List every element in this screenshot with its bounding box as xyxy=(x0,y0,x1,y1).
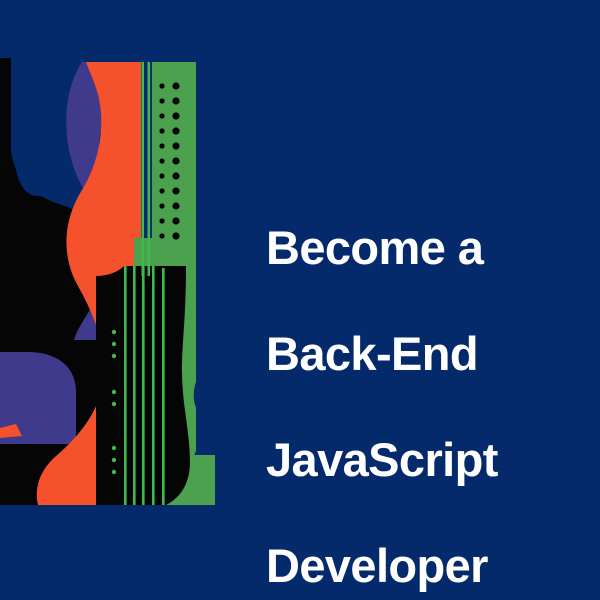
headline-line-3: JavaScript xyxy=(266,433,586,486)
navy-notch-upper xyxy=(14,58,68,196)
headline-line-2: Back-End xyxy=(266,327,586,380)
headline-line-4: Developer xyxy=(266,539,586,592)
headline-line-1: Become a xyxy=(266,221,586,274)
page-title: Become a Back-End JavaScript Developer xyxy=(266,168,586,600)
poster-canvas: Become a Back-End JavaScript Developer xyxy=(0,0,600,600)
